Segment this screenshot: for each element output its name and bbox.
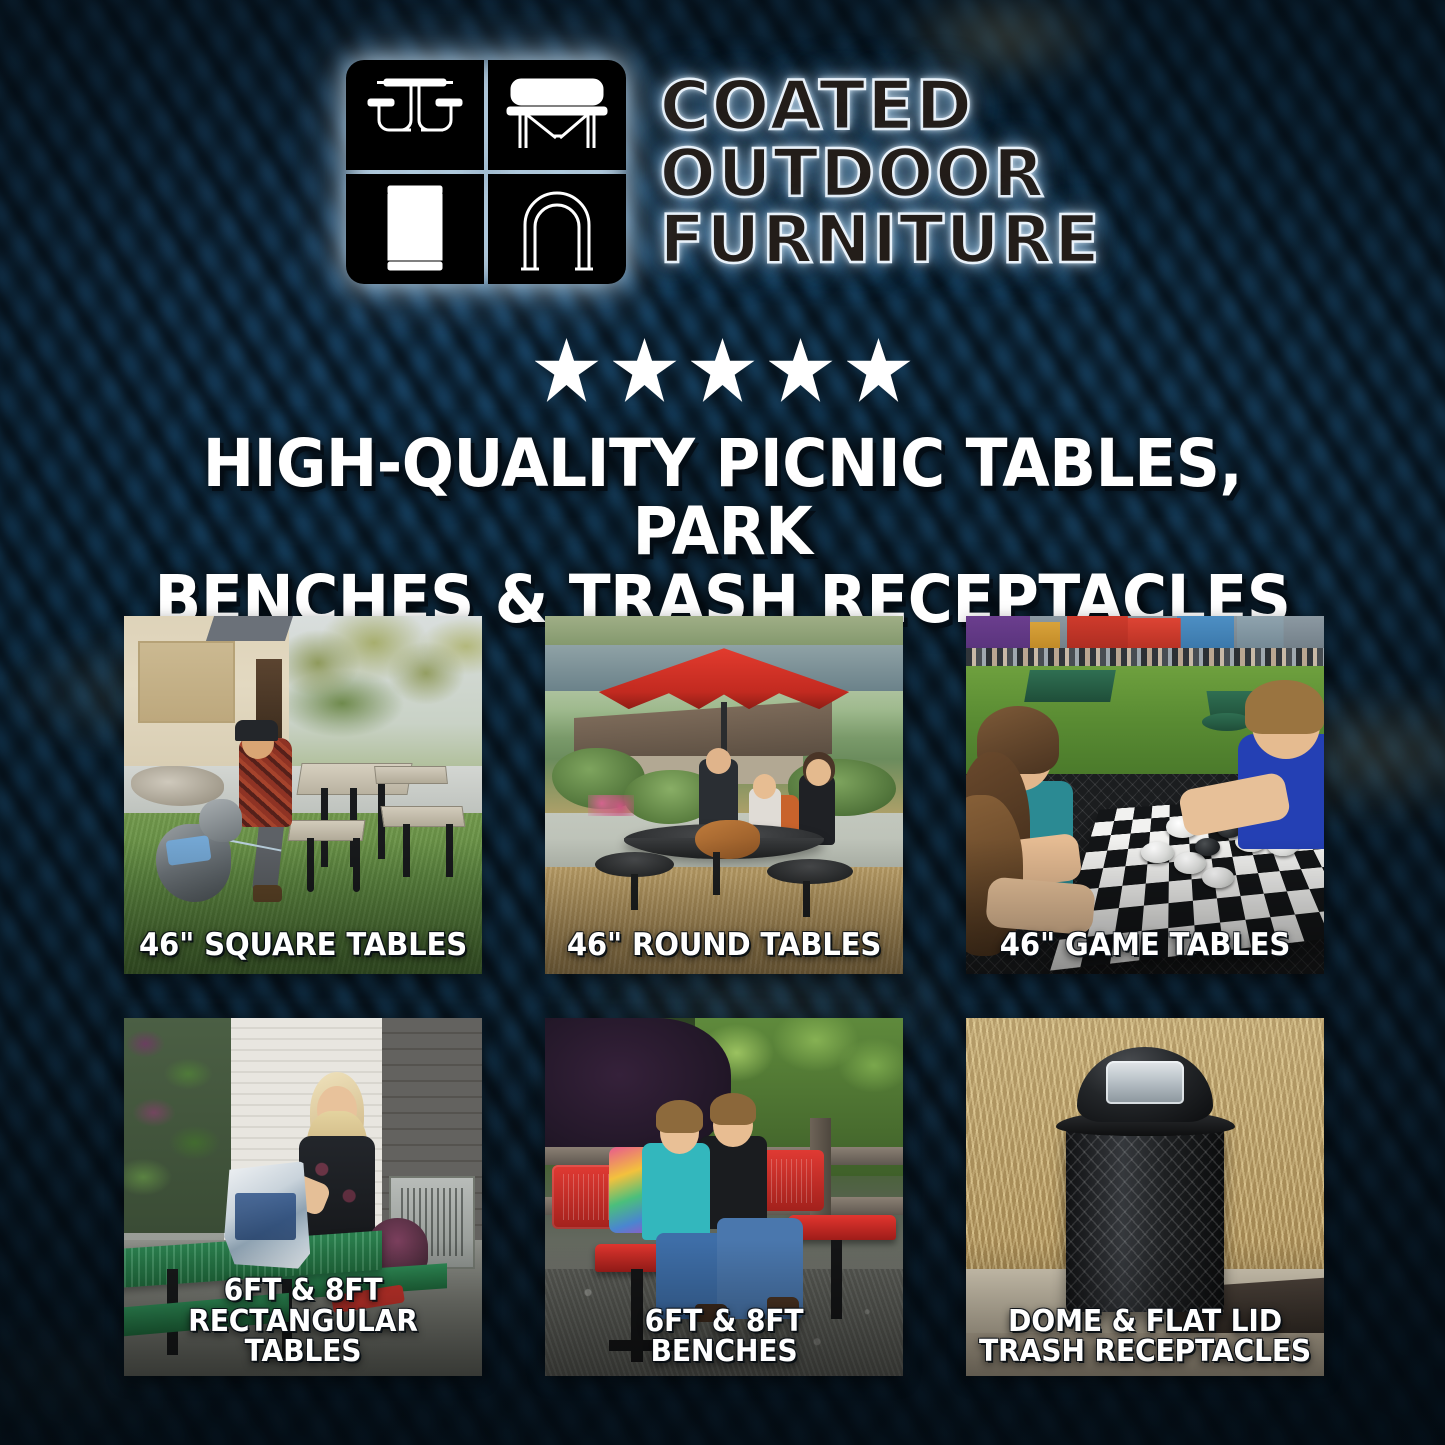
product-caption: 46" SQUARE TABLES bbox=[135, 930, 472, 962]
product-caption: 6FT & 8FT RECTANGULAR TABLES bbox=[135, 1276, 472, 1368]
product-tile-game-tables[interactable]: 46" GAME TABLES bbox=[966, 616, 1324, 974]
page-title: HIGH-QUALITY PICNIC TABLES, PARK BENCHES… bbox=[51, 430, 1395, 634]
product-caption: DOME & FLAT LID TRASH RECEPTACLES bbox=[977, 1307, 1314, 1368]
bike-rack-arch-icon bbox=[488, 174, 626, 284]
brand-name-line-2: OUTDOOR bbox=[660, 142, 1102, 206]
headline-line-1: HIGH-QUALITY PICNIC TABLES, PARK bbox=[106, 430, 1338, 566]
picnic-table-front-icon bbox=[346, 60, 484, 170]
star-icon-4 bbox=[769, 338, 833, 402]
product-tile-trash-receptacles[interactable]: DOME & FLAT LID TRASH RECEPTACLES bbox=[966, 1018, 1324, 1376]
caption-line-2: RECTANGULAR TABLES bbox=[135, 1307, 472, 1368]
brand-name-line-1: COATED bbox=[660, 74, 1102, 140]
caption-line-2: BENCHES bbox=[556, 1337, 893, 1368]
brand-wordmark: COATED OUTDOOR FURNITURE bbox=[660, 72, 1102, 272]
product-tile-square-tables[interactable]: 46" SQUARE TABLES bbox=[124, 616, 482, 974]
photo-game-tables bbox=[966, 616, 1324, 974]
caption-line-1: 46" SQUARE TABLES bbox=[135, 930, 472, 962]
product-tile-rectangular-tables[interactable]: 6FT & 8FT RECTANGULAR TABLES bbox=[124, 1018, 482, 1376]
photo-square-tables bbox=[124, 616, 482, 974]
star-icon-5 bbox=[847, 338, 911, 402]
product-grid: 46" SQUARE TABLES bbox=[124, 616, 1323, 1376]
product-tile-round-tables[interactable]: 46" ROUND TABLES bbox=[545, 616, 903, 974]
brand-name-line-3: FURNITURE bbox=[660, 208, 1102, 272]
caption-line-1: 46" GAME TABLES bbox=[977, 930, 1314, 962]
star-rating bbox=[0, 338, 1445, 402]
product-caption: 46" ROUND TABLES bbox=[556, 930, 893, 962]
table-side-icon bbox=[488, 60, 626, 170]
caption-line-1: 46" ROUND TABLES bbox=[556, 930, 893, 962]
star-icon-2 bbox=[613, 338, 677, 402]
caption-line-1: DOME & FLAT LID bbox=[977, 1307, 1314, 1338]
poster-canvas: COATED OUTDOOR FURNITURE HIGH-QUALITY PI… bbox=[0, 0, 1445, 1445]
photo-round-tables bbox=[545, 616, 903, 974]
product-tile-benches[interactable]: 6FT & 8FT BENCHES bbox=[545, 1018, 903, 1376]
star-icon-1 bbox=[535, 338, 599, 402]
caption-line-1: 6FT & 8FT bbox=[135, 1276, 472, 1307]
brand-logo: COATED OUTDOOR FURNITURE bbox=[0, 58, 1445, 286]
product-caption: 46" GAME TABLES bbox=[977, 930, 1314, 962]
logo-icon-grid bbox=[344, 58, 628, 286]
star-icon-3 bbox=[691, 338, 755, 402]
caption-line-2: TRASH RECEPTACLES bbox=[977, 1337, 1314, 1368]
product-caption: 6FT & 8FT BENCHES bbox=[556, 1307, 893, 1368]
trash-receptacle-icon bbox=[346, 174, 484, 284]
caption-line-1: 6FT & 8FT bbox=[556, 1307, 893, 1338]
